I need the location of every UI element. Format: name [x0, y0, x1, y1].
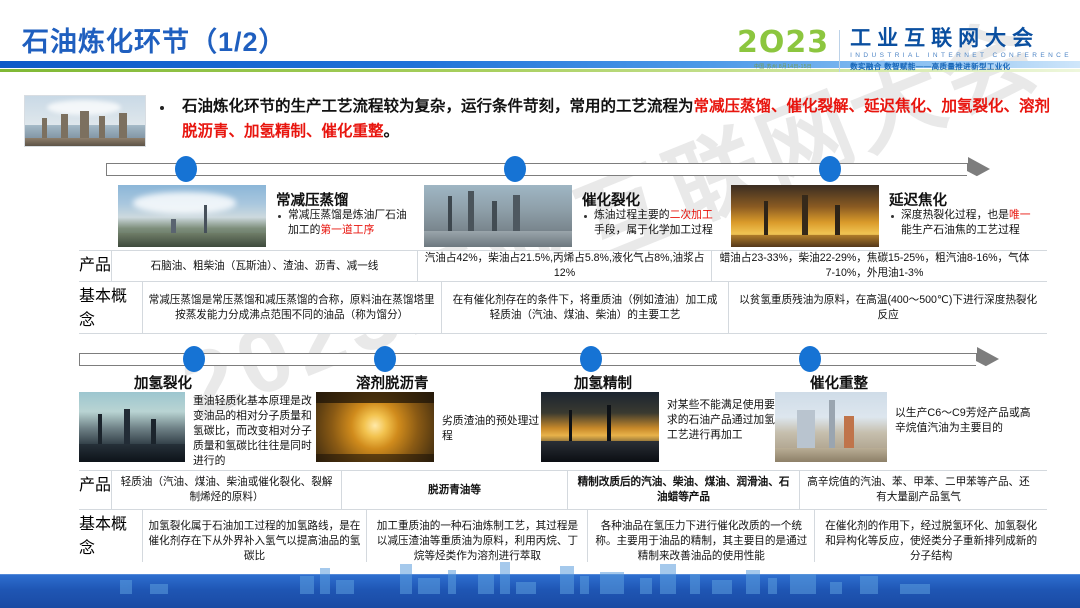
- process-card: 催化裂化 炼油过程主要的二次加工手段，属于化学加工过程: [424, 185, 714, 247]
- logo-year-text: 2O23: [737, 28, 829, 58]
- process-timeline-arrow-row2: [79, 347, 1009, 373]
- row-label-product: 产品: [79, 251, 111, 281]
- intro-paragraph: 石油炼化环节的生产工艺流程较为复杂，运行条件苛刻，常用的工艺流程为常减压蒸馏、催…: [182, 94, 1062, 144]
- process-title: 加氢裂化: [134, 372, 192, 393]
- timeline-node[interactable]: [819, 156, 841, 182]
- page-title: 石油炼化环节（1/2）: [22, 20, 287, 59]
- table-cell: 汽油占42%，柴油占21.5%,丙烯占5.8%,液化气占8%,油浆占12%: [417, 251, 711, 281]
- process-bullet-icon: [891, 215, 894, 218]
- process-card: 重油轻质化基本原理是改变油品的相对分子质量和氢碳比，而改变相对分子质量和氢碳比往…: [79, 392, 319, 464]
- process-title: 溶剂脱沥青: [356, 372, 429, 393]
- table-cell: 常减压蒸馏是常压蒸馏和减压蒸馏的合称，原料油在蒸馏塔里按蒸发能力分成沸点范围不同…: [142, 282, 441, 333]
- process-title: 延迟焦化: [889, 189, 947, 210]
- intro-text-plain: 石油炼化环节的生产工艺流程较为复杂，运行条件苛刻，常用的工艺流程为: [182, 98, 694, 115]
- process-description: 深度热裂化过程，也是唯一能生产石油焦的工艺过程: [901, 208, 1037, 238]
- desc-tail: 能生产石油焦的工艺过程: [901, 224, 1020, 236]
- process-image: [79, 392, 185, 462]
- process-image: [731, 185, 879, 247]
- summary-table-1: 产品 石脑油、粗柴油（瓦斯油）、渣油、沥青、减一线 汽油占42%，柴油占21.5…: [79, 250, 1047, 334]
- conference-logo: 2O23 中国·苏州 8月14日-15日 工业互联网大会 INDUSTRIAL …: [737, 28, 1072, 74]
- desc-highlight: 第一道工序: [320, 224, 374, 236]
- slide-root: 2023工业互联网大会 石油炼化环节（1/2） 2O23 中国·苏州 8月14日…: [0, 0, 1080, 608]
- desc-plain: 深度热裂化过程，也是: [901, 209, 1009, 221]
- row-label-product: 产品: [79, 471, 111, 509]
- timeline-node[interactable]: [580, 346, 602, 372]
- table-cell: 轻质油（汽油、煤油、柴油或催化裂化、裂解制烯烃的原料）: [111, 471, 341, 509]
- table-cell: 石脑油、粗柴油（瓦斯油）、渣油、沥青、减一线: [111, 251, 417, 281]
- timeline-node[interactable]: [799, 346, 821, 372]
- summary-table-2: 产品 轻质油（汽油、煤油、柴油或催化裂化、裂解制烯烃的原料） 脱沥青油等 精制改…: [79, 470, 1047, 574]
- process-description: 炼油过程主要的二次加工手段，属于化学加工过程: [594, 208, 722, 238]
- logo-tagline: 数实融合 数智赋能——高质量推进新型工业化: [850, 61, 1072, 72]
- desc-tail: 手段，属于化学加工过程: [594, 224, 713, 236]
- table-cell: 以贫氢重质残油为原料，在高温(400～500℃)下进行深度热裂化反应: [728, 282, 1047, 333]
- row-label-concept: 基本概念: [79, 282, 142, 333]
- process-bullet-icon: [584, 215, 587, 218]
- process-description: 常减压蒸馏是炼油厂石油加工的第一道工序: [288, 208, 414, 238]
- timeline-arrowhead-icon: [977, 347, 999, 371]
- table-cell: 高辛烷值的汽油、苯、甲苯、二甲苯等产品、还有大量副产品氢气: [799, 471, 1037, 509]
- process-image: [316, 392, 434, 462]
- table-cell: 蜡油占23-33%，柴油22-29%，焦碳15-25%，粗汽油8-16%，气体7…: [711, 251, 1037, 281]
- table-cell: 在有催化剂存在的条件下，将重质油（例如渣油）加工成轻质油（汽油、煤油、柴油）的主…: [441, 282, 729, 333]
- process-image: [775, 392, 887, 462]
- process-description: 以生产C6～C9芳烃产品或高辛烷值汽油为主要目的: [895, 406, 1041, 436]
- table-row: 产品 轻质油（汽油、煤油、柴油或催化裂化、裂解制烯烃的原料） 脱沥青油等 精制改…: [79, 470, 1047, 510]
- logo-year-block: 2O23 中国·苏州 8月14日-15日: [737, 28, 839, 70]
- process-title: 常减压蒸馏: [276, 189, 349, 210]
- logo-year-subtext: 中国·苏州 8月14日-15日: [754, 63, 812, 70]
- timeline-node[interactable]: [175, 156, 197, 182]
- process-description: 对某些不能满足使用要求的石油产品通过加氢工艺进行再加工: [667, 398, 777, 443]
- desc-plain: 炼油过程主要的: [594, 209, 670, 221]
- process-card: 对某些不能满足使用要求的石油产品通过加氢工艺进行再加工: [541, 392, 775, 464]
- process-title: 催化重整: [810, 372, 868, 393]
- process-title: 加氢精制: [574, 372, 632, 393]
- process-image: [118, 185, 266, 247]
- footer-banner: [0, 562, 1080, 608]
- timeline-node[interactable]: [374, 346, 396, 372]
- process-bullet-icon: [278, 215, 281, 218]
- logo-name-en: INDUSTRIAL INTERNET CONFERENCE: [850, 52, 1072, 59]
- timeline-node[interactable]: [183, 346, 205, 372]
- slide-header: 石油炼化环节（1/2） 2O23 中国·苏州 8月14日-15日 工业互联网大会…: [0, 0, 1080, 82]
- timeline-arrowhead-icon: [968, 157, 990, 181]
- process-image: [541, 392, 659, 462]
- desc-highlight: 唯一: [1009, 209, 1031, 221]
- timeline-node[interactable]: [504, 156, 526, 182]
- process-image: [424, 185, 572, 247]
- logo-name-cn: 工业互联网大会: [850, 28, 1072, 50]
- thumbnail-tower: [61, 114, 68, 141]
- process-description: 劣质渣油的预处理过程: [442, 414, 546, 444]
- intro-thumbnail-image: [24, 95, 146, 147]
- logo-divider: [839, 30, 840, 72]
- process-card: 常减压蒸馏 常减压蒸馏是炼油厂石油加工的第一道工序: [118, 185, 413, 247]
- process-card: 劣质渣油的预处理过程: [316, 392, 548, 464]
- process-timeline-arrow-row1: [106, 157, 1006, 183]
- table-row: 产品 石脑油、粗柴油（瓦斯油）、渣油、沥青、减一线 汽油占42%，柴油占21.5…: [79, 250, 1047, 282]
- table-cell: 精制改质后的汽油、柴油、煤油、润滑油、石油蜡等产品: [567, 471, 799, 509]
- intro-text-tail: 。: [384, 123, 400, 140]
- thumbnail-tower: [80, 111, 89, 141]
- logo-name-block: 工业互联网大会 INDUSTRIAL INTERNET CONFERENCE 数…: [850, 28, 1072, 72]
- process-card: 延迟焦化 深度热裂化过程，也是唯一能生产石油焦的工艺过程: [731, 185, 1031, 247]
- footer-skyline-graphic: [0, 560, 1080, 594]
- process-title: 催化裂化: [582, 189, 640, 210]
- timeline-bar: [79, 353, 977, 366]
- table-cell: 脱沥青油等: [341, 471, 567, 509]
- thumbnail-ground: [25, 138, 145, 146]
- desc-highlight: 二次加工: [670, 209, 713, 221]
- process-description: 重油轻质化基本原理是改变油品的相对分子质量和氢碳比，而改变相对分子质量和氢碳比往…: [193, 394, 319, 469]
- process-card: 以生产C6～C9芳烃产品或高辛烷值汽油为主要目的: [775, 392, 1043, 464]
- thumbnail-tower: [119, 113, 127, 142]
- intro-bullet-icon: [160, 106, 164, 110]
- table-row: 基本概念 常减压蒸馏是常压蒸馏和减压蒸馏的合称，原料油在蒸馏塔里按蒸发能力分成沸…: [79, 282, 1047, 334]
